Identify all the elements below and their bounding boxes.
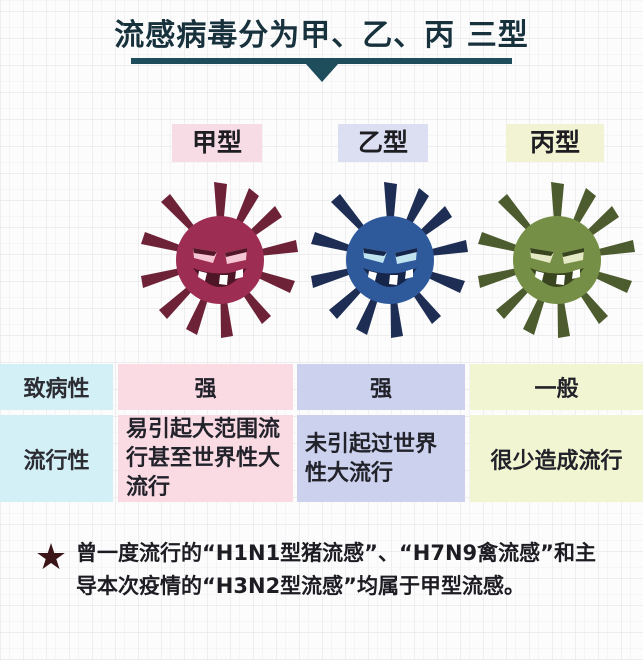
row-label-prevalence: 流行性 — [0, 415, 113, 502]
cell-value: 易引起大范围流行甚至世界性大流行 — [118, 415, 293, 502]
virus-icon-a — [135, 178, 305, 343]
table-row: 流行性 易引起大范围流行甚至世界性大流行 未引起过世界性大流行 很少造成流行 — [0, 415, 643, 502]
type-label-b: 乙型 — [338, 124, 428, 162]
star-icon: ★ — [34, 543, 68, 577]
footnote: ★ 曾一度流行的“H1N1型猪流感”、“H7N9禽流感”和主导本次疫情的“H3N… — [34, 537, 614, 603]
cell-prevalence-c: 很少造成流行 — [470, 415, 643, 502]
cell-prevalence-a: 易引起大范围流行甚至世界性大流行 — [118, 415, 293, 502]
virus-icon-b — [305, 178, 475, 343]
cell-value: 很少造成流行 — [470, 443, 643, 475]
cell-pathogenicity-a: 强 — [118, 364, 293, 410]
cell-value: 一般 — [470, 371, 643, 403]
footnote-text: 曾一度流行的“H1N1型猪流感”、“H7N9禽流感”和主导本次疫情的“H3N2型… — [76, 537, 614, 603]
type-label-a: 甲型 — [172, 124, 262, 162]
title-block: 流感病毒分为甲、乙、丙 三型 — [0, 16, 643, 56]
cell-value: 强 — [118, 371, 293, 403]
row-label-text: 流行性 — [23, 443, 89, 475]
comparison-table: 致病性 强 强 一般 流行性 易引起大范围流行甚至世界性大流行 未引起过世界性大… — [0, 364, 643, 502]
virus-icon-c — [472, 178, 642, 343]
cell-pathogenicity-c: 一般 — [470, 364, 643, 410]
row-label-text: 致病性 — [23, 371, 89, 403]
type-label-c: 丙型 — [506, 124, 604, 162]
page-title: 流感病毒分为甲、乙、丙 三型 — [0, 16, 643, 56]
table-row: 致病性 强 强 一般 — [0, 364, 643, 410]
title-arrow-icon — [306, 64, 338, 82]
cell-prevalence-b: 未引起过世界性大流行 — [297, 415, 465, 502]
cell-pathogenicity-b: 强 — [297, 364, 465, 410]
cell-value: 强 — [297, 371, 465, 403]
cell-value: 未引起过世界性大流行 — [297, 430, 465, 488]
row-label-pathogenicity: 致病性 — [0, 364, 113, 410]
